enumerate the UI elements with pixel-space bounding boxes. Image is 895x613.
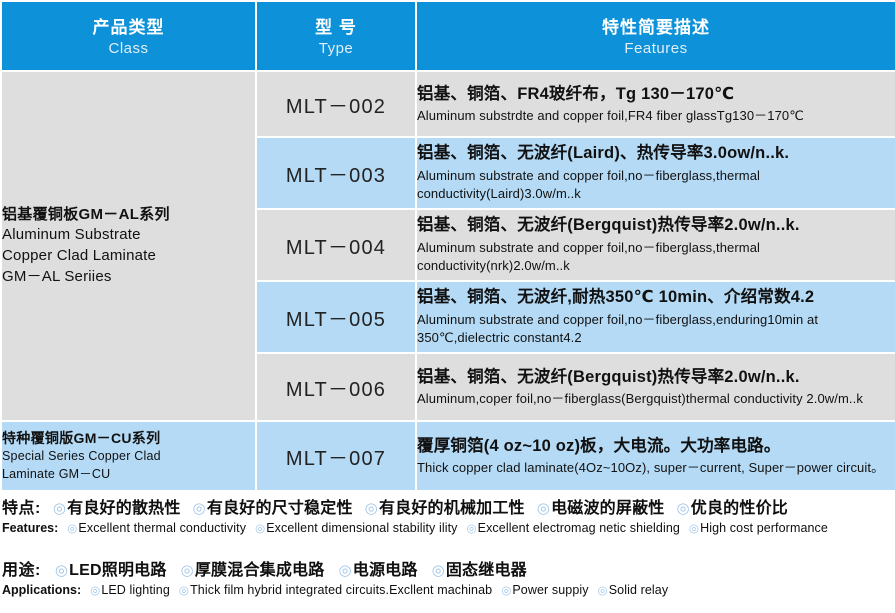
feature-zh-item-3: ◎电磁波的屏蔽性 [537,494,665,518]
features-zh-mlt-002: 铝基、铜箔、FR4玻纤布，Tg 130－170℃ [417,83,895,105]
applications-zh-items: ◎LED照明电路◎厚膜混合集成电路◎电源电路◎固态继电器 [41,556,527,580]
features-zh-mlt-005: 铝基、铜箔、无波纤,耐热350℃ 10min、介绍常数4.2 [417,286,895,308]
bullet-circle-icon: ◎ [55,562,68,579]
class-gm-al-en-1: Aluminum Substrate [2,225,255,246]
header-class-zh: 产品类型 [2,15,255,38]
bullet-circle-icon: ◎ [689,523,699,535]
bullet-circle-icon: ◎ [676,500,689,517]
header-features-zh: 特性简要描述 [417,15,895,38]
application-zh-item-2: ◎电源电路 [338,556,417,580]
feature-zh-item-0: ◎有良好的散热性 [53,494,181,518]
table-header-row: 产品类型 Class 型 号 Type 特性简要描述 Features [2,2,895,70]
features-en-mlt-005: Aluminum substrate and copper foil,no－fi… [417,311,895,348]
header-cell-features: 特性简要描述 Features [417,2,895,70]
application-en-item-2: ◎Power suppiy [501,583,588,597]
bullet-circle-icon: ◎ [467,523,477,535]
application-en-item-1: ◎Thick film hybrid integrated circuits.E… [179,583,492,597]
product-specification-table: 产品类型 Class 型 号 Type 特性简要描述 Features 铝基覆铜… [0,0,895,492]
features-zh-mlt-007: 覆厚铜箔(4 oz~10 oz)板，大电流。大功率电路。 [417,435,895,457]
feature-zh-item-1: ◎有良好的尺寸稳定性 [193,494,353,518]
header-cell-type: 型 号 Type [257,2,415,70]
class-gm-al-en-2: Copper Clad Laminate [2,246,255,267]
bullet-circle-icon: ◎ [90,585,100,597]
application-zh-item-1: ◎厚膜混合集成电路 [181,556,325,580]
table-row: 特种覆铜版GM－CU系列 Special Series Copper Clad … [2,422,895,490]
features-en-mlt-006: Aluminum,coper foil,no－fiberglass(Bergqu… [417,390,895,408]
applications-en-label: Applications: [0,583,81,597]
features-zh-mlt-006: 铝基、铜箔、无波纤(Bergquist)热传导率2.0w/n..k. [417,366,895,388]
features-note-block: 特点: ◎有良好的散热性◎有良好的尺寸稳定性◎有良好的机械加工性◎电磁波的屏蔽性… [0,494,895,535]
header-features-en: Features [417,40,895,57]
bullet-circle-icon: ◎ [193,500,206,517]
features-zh-mlt-003: 铝基、铜箔、无波纤(Laird)、热传导率3.0ow/n..k. [417,142,895,164]
bullet-circle-icon: ◎ [179,585,189,597]
feature-en-item-1: ◎Excellent dimensional stability ility [255,521,457,535]
class-cell-gm-al: 铝基覆铜板GM－AL系列 Aluminum Substrate Copper C… [2,72,255,420]
applications-en-items: ◎LED lighting◎Thick film hybrid integrat… [81,583,668,597]
features-en-mlt-003: Aluminum substrate and copper foil,no－fi… [417,167,895,204]
header-type-en: Type [257,40,415,57]
type-cell-mlt-004: MLT－004 [257,210,415,280]
feature-zh-item-4: ◎优良的性价比 [676,494,788,518]
class-cell-gm-cu: 特种覆铜版GM－CU系列 Special Series Copper Clad … [2,422,255,490]
applications-zh-row: 用途: ◎LED照明电路◎厚膜混合集成电路◎电源电路◎固态继电器 [0,556,895,580]
table-row: 铝基覆铜板GM－AL系列 Aluminum Substrate Copper C… [2,72,895,136]
type-cell-mlt-002: MLT－002 [257,72,415,136]
spec-sheet-page: 产品类型 Class 型 号 Type 特性简要描述 Features 铝基覆铜… [0,0,895,613]
type-cell-mlt-006: MLT－006 [257,354,415,420]
header-type-zh: 型 号 [257,15,415,38]
bullet-circle-icon: ◎ [67,523,77,535]
features-en-row: Features: ◎Excellent thermal conductivit… [0,521,895,535]
bullet-circle-icon: ◎ [537,500,550,517]
bullet-circle-icon: ◎ [338,562,351,579]
class-gm-cu-en-1: Special Series Copper Clad [2,448,255,465]
bullet-circle-icon: ◎ [53,500,66,517]
bullet-circle-icon: ◎ [255,523,265,535]
applications-zh-label: 用途: [0,556,41,580]
features-en-label: Features: [0,521,58,535]
application-en-item-3: ◎Solid relay [598,583,669,597]
bullet-circle-icon: ◎ [365,500,378,517]
features-cell-mlt-005: 铝基、铜箔、无波纤,耐热350℃ 10min、介绍常数4.2 Aluminum … [417,282,895,352]
application-en-item-0: ◎LED lighting [90,583,170,597]
feature-en-item-0: ◎Excellent thermal conductivity [67,521,246,535]
applications-note-block: 用途: ◎LED照明电路◎厚膜混合集成电路◎电源电路◎固态继电器 Applica… [0,556,895,597]
features-cell-mlt-007: 覆厚铜箔(4 oz~10 oz)板，大电流。大功率电路。 Thick coppe… [417,422,895,490]
features-en-mlt-002: Aluminum substrdte and copper foil,FR4 f… [417,107,895,125]
features-zh-label: 特点: [0,494,41,518]
bullet-circle-icon: ◎ [501,585,511,597]
type-cell-mlt-007: MLT－007 [257,422,415,490]
feature-zh-item-2: ◎有良好的机械加工性 [365,494,525,518]
applications-en-row: Applications: ◎LED lighting◎Thick film h… [0,583,895,597]
bullet-circle-icon: ◎ [432,562,445,579]
features-cell-mlt-003: 铝基、铜箔、无波纤(Laird)、热传导率3.0ow/n..k. Aluminu… [417,138,895,208]
features-cell-mlt-006: 铝基、铜箔、无波纤(Bergquist)热传导率2.0w/n..k. Alumi… [417,354,895,420]
features-zh-items: ◎有良好的散热性◎有良好的尺寸稳定性◎有良好的机械加工性◎电磁波的屏蔽性◎优良的… [41,494,788,518]
bullet-circle-icon: ◎ [181,562,194,579]
feature-en-item-2: ◎Excellent electromag netic shielding [467,521,680,535]
type-cell-mlt-003: MLT－003 [257,138,415,208]
class-gm-al-zh: 铝基覆铜板GM－AL系列 [2,205,255,226]
class-gm-cu-zh: 特种覆铜版GM－CU系列 [2,429,255,448]
features-en-mlt-004: Aluminum substrate and copper foil,no－fi… [417,239,895,276]
feature-en-item-3: ◎High cost performance [689,521,828,535]
header-class-en: Class [2,40,255,57]
features-cell-mlt-002: 铝基、铜箔、FR4玻纤布，Tg 130－170℃ Aluminum substr… [417,72,895,136]
application-zh-item-0: ◎LED照明电路 [55,556,167,580]
features-en-mlt-007: Thick copper clad laminate(4Oz~10Oz), su… [417,459,895,477]
bullet-circle-icon: ◎ [598,585,608,597]
features-cell-mlt-004: 铝基、铜箔、无波纤(Bergquist)热传导率2.0w/n..k. Alumi… [417,210,895,280]
features-en-items: ◎Excellent thermal conductivity◎Excellen… [58,521,828,535]
application-zh-item-3: ◎固态继电器 [432,556,527,580]
type-cell-mlt-005: MLT－005 [257,282,415,352]
class-gm-cu-en-2: Laminate GM－CU [2,466,255,483]
header-cell-class: 产品类型 Class [2,2,255,70]
features-zh-mlt-004: 铝基、铜箔、无波纤(Bergquist)热传导率2.0w/n..k. [417,214,895,236]
class-gm-al-en-3: GM－AL Seriies [2,267,255,288]
features-zh-row: 特点: ◎有良好的散热性◎有良好的尺寸稳定性◎有良好的机械加工性◎电磁波的屏蔽性… [0,494,895,518]
